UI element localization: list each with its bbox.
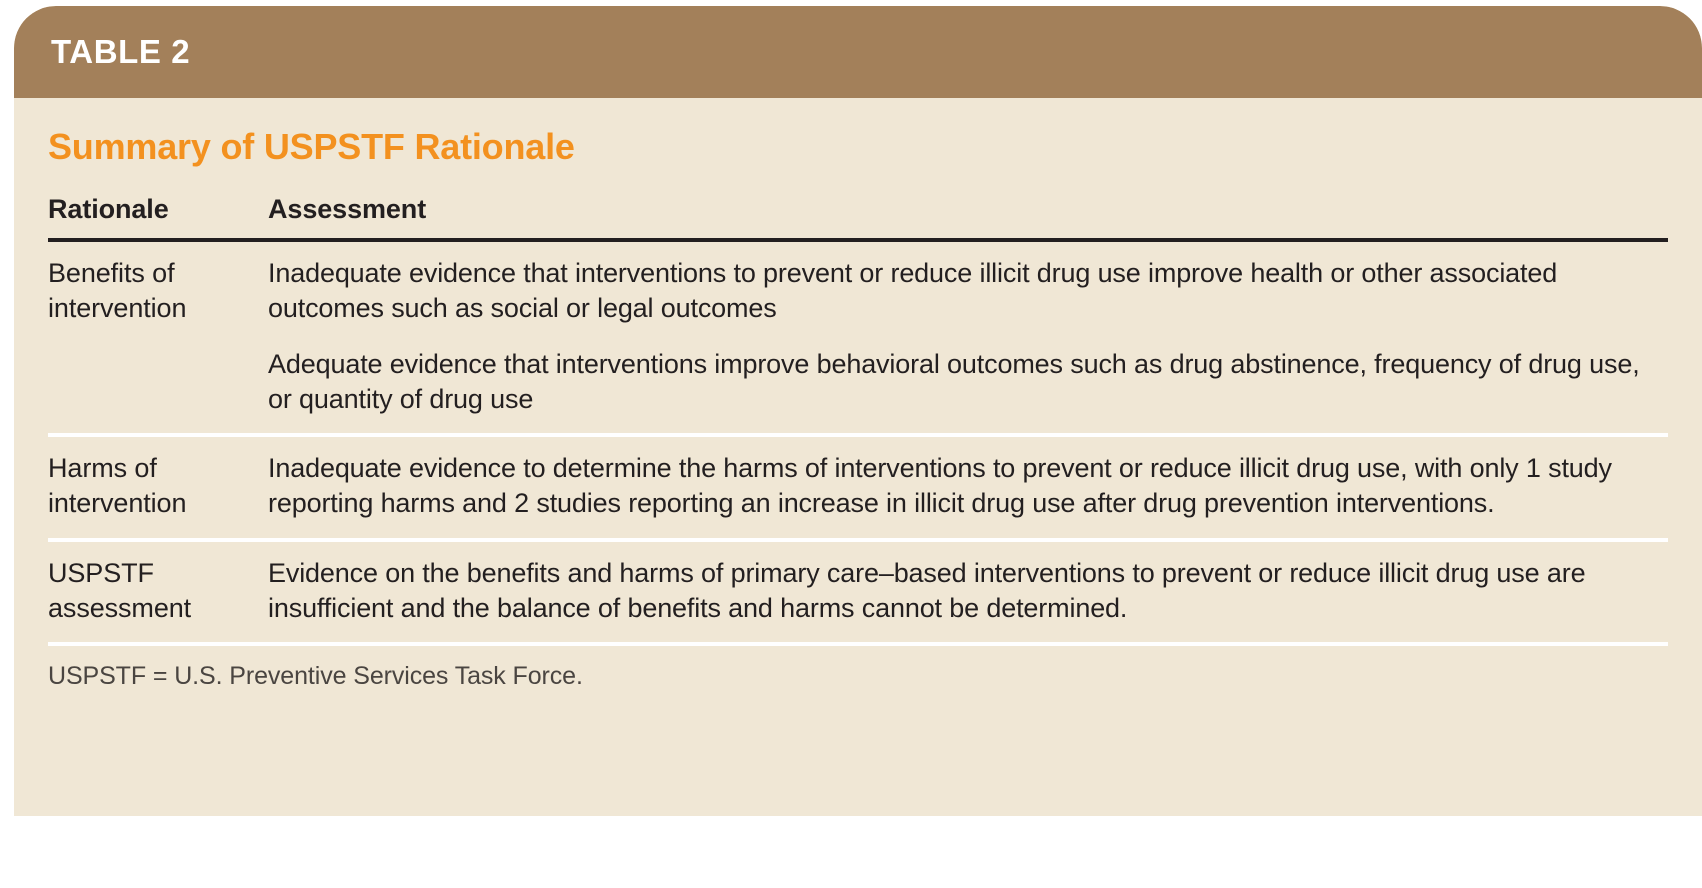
row-label-benefits-of-intervention: Benefits of intervention — [48, 242, 268, 326]
row-content-benefits-of-intervention: Inadequate evidence that interventions t… — [268, 242, 1668, 417]
page-title: Summary of USPSTF Rationale — [48, 126, 1702, 168]
table-row: USPSTF assessment Evidence on the benefi… — [48, 542, 1668, 642]
column-header-assessment: Assessment — [268, 194, 1668, 238]
footnote-divider — [48, 642, 1668, 646]
table-number-label: TABLE 2 — [51, 33, 190, 71]
row-content-harms-of-intervention: Inadequate evidence to determine the har… — [268, 437, 1668, 521]
table-row: Harms of intervention Inadequate evidenc… — [48, 437, 1668, 537]
paragraph: Inadequate evidence that interventions t… — [268, 256, 1668, 326]
paragraph: Adequate evidence that interventions imp… — [268, 347, 1668, 417]
column-header-rationale: Rationale — [48, 194, 268, 238]
table-card: TABLE 2 Summary of USPSTF Rationale Rati… — [14, 6, 1702, 816]
row-label-uspstf-assessment: USPSTF assessment — [48, 542, 268, 626]
row-label-harms-of-intervention: Harms of intervention — [48, 437, 268, 521]
table-header-bar: TABLE 2 — [14, 6, 1702, 98]
table-header-row: Rationale Assessment — [48, 194, 1668, 238]
paragraph: Evidence on the benefits and harms of pr… — [268, 556, 1668, 626]
row-content-uspstf-assessment: Evidence on the benefits and harms of pr… — [268, 542, 1668, 626]
table-grid: Rationale Assessment Benefits of interve… — [48, 194, 1668, 646]
paragraph: Inadequate evidence to determine the har… — [268, 451, 1668, 521]
table-footnote: USPSTF = U.S. Preventive Services Task F… — [48, 662, 1702, 691]
table-row: Benefits of intervention Inadequate evid… — [48, 242, 1668, 433]
